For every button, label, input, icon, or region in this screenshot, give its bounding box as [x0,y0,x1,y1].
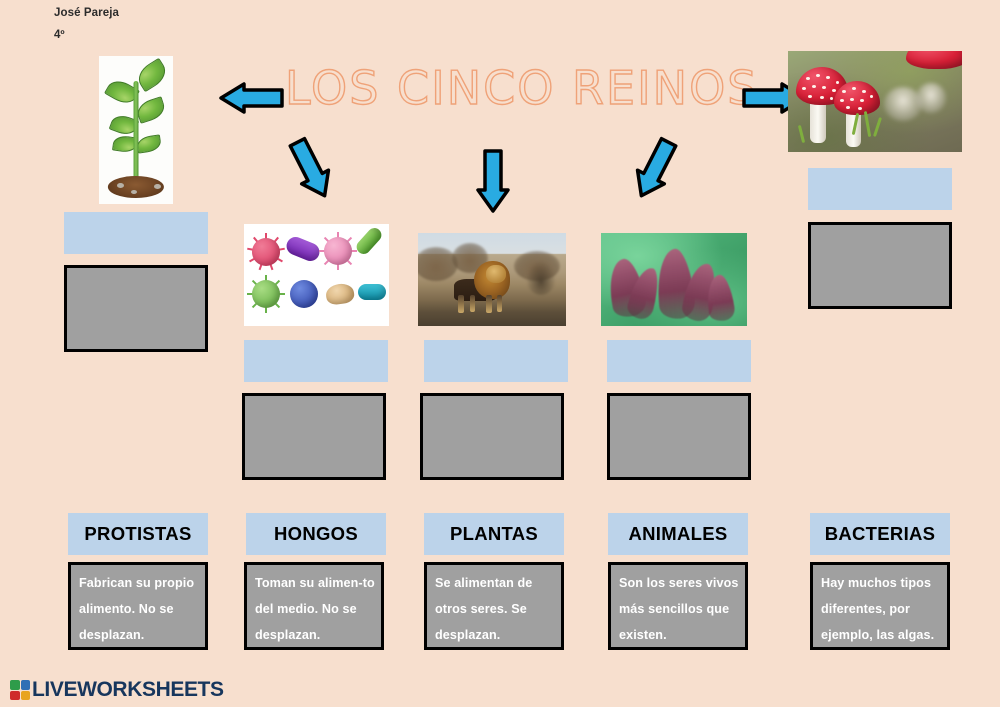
liveworksheets-logo[interactable]: LIVEWORKSHEETS [10,678,224,702]
microbe-green-spiky [252,280,280,308]
blue-dropzone-mushroom[interactable] [808,168,952,210]
microbe-red [252,238,280,266]
mushroom-image [788,51,962,152]
page-title: LOS CINCO REINOS [285,62,735,114]
student-grade: 4º [54,29,65,41]
answer-description-bacterias[interactable]: Hay muchos tipos diferentes, por ejemplo… [810,562,950,650]
microbe-green-rod [354,225,384,257]
lion-image [418,233,566,326]
blue-dropzone-microbes[interactable] [244,340,388,382]
gray-dropzone-mushroom[interactable] [808,222,952,309]
answer-label-plantas[interactable]: PLANTAS [424,513,564,555]
answer-label-animales[interactable]: ANIMALES [608,513,748,555]
blue-dropzone-lion[interactable] [424,340,568,382]
blue-dropzone-algae[interactable] [607,340,751,382]
logo-tile-blue [21,680,31,690]
microbe-purple [284,234,322,263]
student-name: José Pareja [54,7,119,19]
answer-label-bacterias[interactable]: BACTERIAS [810,513,950,555]
logo-tile-yellow [21,691,31,701]
answer-description-protistas[interactable]: Fabrican su propio alimento. No se despl… [68,562,208,650]
arrow-down-right-icon [620,129,691,209]
liveworksheets-logo-text: LIVEWORKSHEETS [32,678,224,702]
gray-dropzone-microbes[interactable] [242,393,386,480]
gray-dropzone-lion[interactable] [420,393,564,480]
blue-dropzone-plant[interactable] [64,212,208,254]
logo-tile-red [10,691,20,701]
logo-tile-green [10,680,20,690]
plant-image [99,56,173,204]
arrow-left-icon [218,76,284,120]
microbe-teal [358,284,386,300]
gray-dropzone-algae[interactable] [607,393,751,480]
answer-description-hongos[interactable]: Toman su alimen-to del medio. No se desp… [244,562,384,650]
worksheet-page: José Pareja 4º LOS CINCO REINOS [0,0,1000,707]
algae-image [601,233,747,326]
arrow-down-left-icon [276,129,347,209]
arrow-down-icon [470,148,516,214]
liveworksheets-logo-icon [10,680,30,700]
microbe-pink [324,237,352,265]
microbe-blue [290,280,318,308]
answer-label-hongos[interactable]: HONGOS [246,513,386,555]
answer-label-protistas[interactable]: PROTISTAS [68,513,208,555]
answer-description-plantas[interactable]: Se alimentan de otros seres. Se desplaza… [424,562,564,650]
microbes-image [244,224,389,326]
microbe-tan [325,282,356,306]
gray-dropzone-plant[interactable] [64,265,208,352]
answer-description-animales[interactable]: Son los seres vivos más sencillos que ex… [608,562,748,650]
